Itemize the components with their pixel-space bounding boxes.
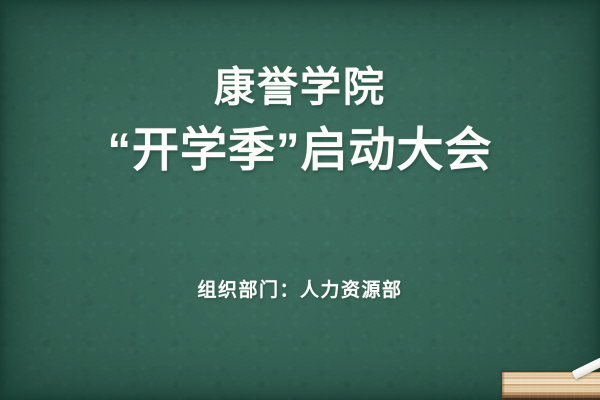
slide-subtitle: 组织部门：人力资源部 (197, 278, 402, 304)
chalk-ledge (502, 372, 600, 400)
title-line-2: “开学季”启动大会 (0, 121, 600, 179)
ledge-left-edge (502, 372, 505, 400)
slide-content: 康誉学院 “开学季”启动大会 组织部门：人力资源部 (0, 0, 600, 400)
chalkboard-slide: 康誉学院 “开学季”启动大会 组织部门：人力资源部 (0, 0, 600, 400)
slide-title: 康誉学院 “开学季”启动大会 (0, 62, 600, 179)
slide-subtitle-area: 组织部门：人力资源部 (0, 278, 600, 304)
wood-grain-texture (502, 372, 600, 400)
title-line-1: 康誉学院 (0, 62, 600, 112)
